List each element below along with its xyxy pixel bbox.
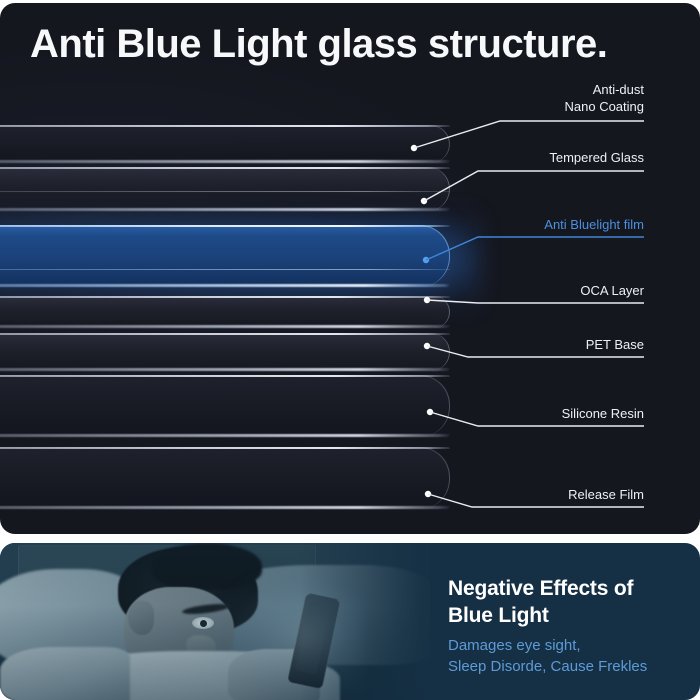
layer-anti-dust-nano-coating bbox=[0, 125, 450, 163]
layer-top-edge bbox=[0, 333, 450, 335]
heading-line-1: Negative Effects of bbox=[448, 575, 688, 602]
layer-body bbox=[0, 225, 450, 287]
layer-bottom-edge bbox=[0, 434, 450, 437]
layer-body bbox=[0, 125, 450, 163]
layer-body bbox=[0, 447, 450, 509]
label-line-1: PET Base bbox=[404, 336, 644, 353]
label-line-1: Silicone Resin bbox=[404, 405, 644, 422]
layer-bottom-edge bbox=[0, 368, 450, 371]
photo-pupil bbox=[200, 620, 207, 627]
layer-oca bbox=[0, 296, 450, 328]
negative-effects-heading: Negative Effects of Blue Light bbox=[448, 575, 688, 629]
negative-effects-text-block: Negative Effects of Blue Light Damages e… bbox=[448, 575, 688, 677]
glass-structure-panel: Anti Blue Light glass structure. bbox=[0, 3, 700, 534]
label-line-1: Tempered Glass bbox=[404, 149, 644, 166]
label-line-1: OCA Layer bbox=[404, 282, 644, 299]
subtext-line-1: Damages eye sight, bbox=[448, 635, 688, 656]
subtext-line-2: Sleep Disorde, Cause Frekles bbox=[448, 656, 688, 677]
leader-tempered-glass bbox=[421, 171, 644, 204]
page-title: Anti Blue Light glass structure. bbox=[30, 22, 607, 67]
man-in-bed-using-phone-photo bbox=[0, 543, 430, 700]
label-pet-base: PET Base bbox=[404, 336, 644, 353]
layer-tempered-glass bbox=[0, 167, 450, 211]
infographic-root: Anti Blue Light glass structure. bbox=[0, 0, 700, 700]
layer-top-edge bbox=[0, 296, 450, 298]
layer-body bbox=[0, 167, 450, 211]
heading-line-2: Blue Light bbox=[448, 602, 688, 629]
layer-top-edge bbox=[0, 447, 450, 449]
layer-body bbox=[0, 375, 450, 437]
label-line-1: Release Film bbox=[404, 486, 644, 503]
layer-silicone-resin bbox=[0, 375, 450, 437]
layer-inner-line bbox=[0, 191, 450, 192]
negative-effects-subtext: Damages eye sight, Sleep Disorde, Cause … bbox=[448, 635, 688, 677]
layer-bottom-edge bbox=[0, 506, 450, 509]
photo-ear bbox=[128, 601, 154, 635]
label-line-2: Nano Coating bbox=[404, 98, 644, 115]
layer-anti-bluelight-film bbox=[0, 225, 450, 287]
label-oca-layer: OCA Layer bbox=[404, 282, 644, 299]
label-anti-bluelight-film: Anti Bluelight film bbox=[404, 216, 644, 233]
layer-bottom-edge bbox=[0, 208, 450, 211]
layer-bottom-edge bbox=[0, 325, 450, 328]
negative-effects-panel: Negative Effects of Blue Light Damages e… bbox=[0, 543, 700, 700]
label-tempered-glass: Tempered Glass bbox=[404, 149, 644, 166]
leader-anti-bluelight-film bbox=[423, 237, 644, 263]
label-release-film: Release Film bbox=[404, 486, 644, 503]
layer-top-edge bbox=[0, 225, 450, 227]
layer-release-film bbox=[0, 447, 450, 509]
layer-body bbox=[0, 296, 450, 328]
label-anti-dust-nano-coating: Anti-dust Nano Coating bbox=[404, 81, 644, 115]
layer-top-edge bbox=[0, 375, 450, 377]
layer-pet-base bbox=[0, 333, 450, 371]
layer-inner-line bbox=[0, 269, 450, 270]
label-line-1: Anti-dust bbox=[404, 81, 644, 98]
layer-body bbox=[0, 333, 450, 371]
layer-bottom-edge bbox=[0, 284, 450, 287]
label-silicone-resin: Silicone Resin bbox=[404, 405, 644, 422]
layer-top-edge bbox=[0, 125, 450, 127]
label-line-1: Anti Bluelight film bbox=[404, 216, 644, 233]
photo-hair-top bbox=[152, 543, 262, 589]
photo-arm bbox=[0, 647, 130, 700]
layer-top-edge bbox=[0, 167, 450, 169]
layer-bottom-edge bbox=[0, 160, 450, 163]
